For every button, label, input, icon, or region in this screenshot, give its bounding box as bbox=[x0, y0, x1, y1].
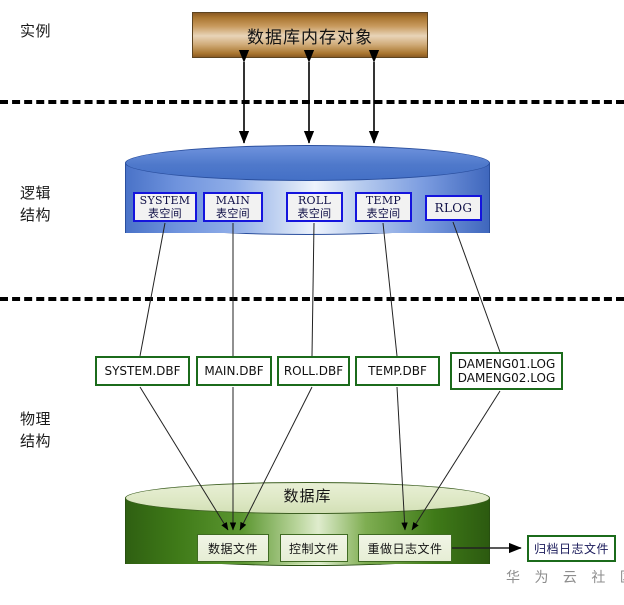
file-box-roll-dbf[interactable]: ROLL.DBF bbox=[277, 356, 350, 386]
file-box-temp-dbf[interactable]: TEMP.DBF bbox=[355, 356, 440, 386]
diagram-canvas: 实例 逻辑 结构 物理 结构 数据库内存对象 SYSTEM 表空间 MAIN 表… bbox=[0, 0, 624, 605]
tablespace-roll-sub: 表空间 bbox=[298, 207, 332, 220]
inner-box-data-file-label: 数据文件 bbox=[208, 540, 258, 557]
file-box-system-dbf[interactable]: SYSTEM.DBF bbox=[95, 356, 190, 386]
link-system-to-systemdbf bbox=[140, 223, 165, 356]
file-box-dameng-log-line1: DAMENG01.LOG bbox=[458, 357, 556, 371]
tablespace-rlog[interactable]: RLOG bbox=[425, 195, 482, 221]
file-box-main-dbf-line1: MAIN.DBF bbox=[204, 364, 263, 378]
archive-log-file-label: 归档日志文件 bbox=[534, 540, 609, 557]
tablespace-roll-name: ROLL bbox=[298, 194, 331, 207]
file-box-roll-dbf-line1: ROLL.DBF bbox=[284, 364, 343, 378]
tablespace-main-name: MAIN bbox=[216, 194, 250, 207]
inner-box-control-file[interactable]: 控制文件 bbox=[280, 534, 348, 562]
link-temp-to-tempdbf bbox=[383, 223, 397, 356]
tablespace-system-sub: 表空间 bbox=[148, 207, 182, 220]
database-title: 数据库 bbox=[125, 485, 490, 506]
tablespace-rlog-name: RLOG bbox=[435, 202, 473, 215]
inner-box-control-file-label: 控制文件 bbox=[289, 540, 339, 557]
link-roll-to-rolldbf bbox=[312, 223, 314, 356]
inner-box-redo-log-file[interactable]: 重做日志文件 bbox=[358, 534, 452, 562]
file-box-dameng-logs[interactable]: DAMENG01.LOG DAMENG02.LOG bbox=[450, 352, 563, 390]
tablespace-temp-sub: 表空间 bbox=[367, 207, 401, 220]
tablespace-main-sub: 表空间 bbox=[216, 207, 250, 220]
tablespace-temp-name: TEMP bbox=[366, 194, 401, 207]
tablespace-system-name: SYSTEM bbox=[140, 194, 191, 207]
file-box-system-dbf-line1: SYSTEM.DBF bbox=[104, 364, 180, 378]
link-rlog-to-damenglog bbox=[453, 222, 500, 352]
tablespace-main[interactable]: MAIN 表空间 bbox=[203, 192, 263, 222]
inner-box-redo-log-file-label: 重做日志文件 bbox=[367, 540, 442, 557]
inner-box-data-file[interactable]: 数据文件 bbox=[197, 534, 269, 562]
file-box-temp-dbf-line1: TEMP.DBF bbox=[368, 364, 427, 378]
file-box-main-dbf[interactable]: MAIN.DBF bbox=[196, 356, 272, 386]
tablespace-temp[interactable]: TEMP 表空间 bbox=[355, 192, 412, 222]
connector-lines bbox=[0, 0, 624, 605]
file-box-dameng-log-line2: DAMENG02.LOG bbox=[458, 371, 556, 385]
tablespace-system[interactable]: SYSTEM 表空间 bbox=[133, 192, 197, 222]
archive-log-file-box[interactable]: 归档日志文件 bbox=[527, 535, 616, 562]
tablespace-roll[interactable]: ROLL 表空间 bbox=[286, 192, 343, 222]
